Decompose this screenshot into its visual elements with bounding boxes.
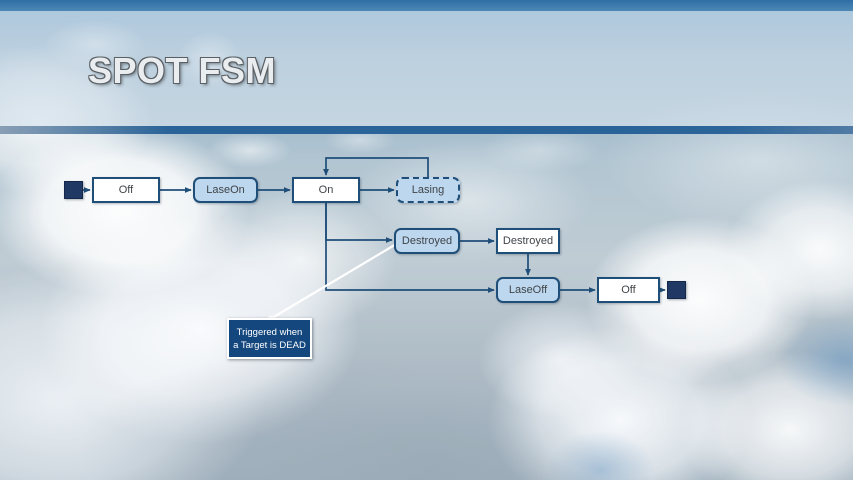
callout-note[interactable]: Triggered when a Target is DEAD — [227, 318, 312, 359]
state-destroyed[interactable]: Destroyed — [496, 228, 560, 254]
end-terminal-node[interactable] — [667, 281, 686, 299]
event-lase-on[interactable]: LaseOn — [193, 177, 258, 203]
edge-lasing-to-on-loop — [326, 158, 428, 177]
event-lase-off[interactable]: LaseOff — [496, 277, 560, 303]
event-lasing[interactable]: Lasing — [396, 177, 460, 203]
state-on[interactable]: On — [292, 177, 360, 203]
callout-line-2: a Target is DEAD — [233, 339, 306, 352]
callout-line-1: Triggered when — [233, 326, 306, 339]
callout-leader-line — [268, 243, 398, 322]
slide-canvas: SPOT FSM — [0, 0, 853, 480]
state-off-end[interactable]: Off — [597, 277, 660, 303]
start-terminal-node[interactable] — [64, 181, 83, 199]
edge-on-to-destroyed — [326, 203, 392, 240]
state-off-start[interactable]: Off — [92, 177, 160, 203]
event-destroyed[interactable]: Destroyed — [394, 228, 460, 254]
fsm-diagram: Off LaseOn On Lasing Destroyed Destroyed… — [0, 0, 853, 480]
